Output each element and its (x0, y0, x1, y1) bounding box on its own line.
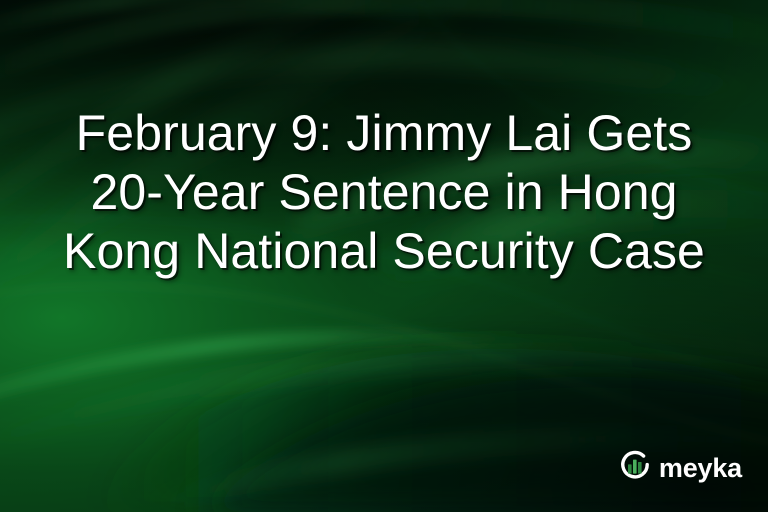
news-headline-card: February 9: Jimmy Lai Gets 20-Year Sente… (0, 0, 768, 512)
meyka-circle-bars-icon (618, 449, 652, 488)
headline-line-2: 20-Year Sentence in Hong (34, 163, 734, 222)
meyka-logo[interactable]: meyka (618, 449, 742, 488)
headline: February 9: Jimmy Lai Gets 20-Year Sente… (0, 104, 768, 281)
headline-line-1: February 9: Jimmy Lai Gets (34, 104, 734, 163)
headline-line-3: Kong National Security Case (34, 222, 734, 281)
meyka-wordmark: meyka (659, 455, 742, 482)
